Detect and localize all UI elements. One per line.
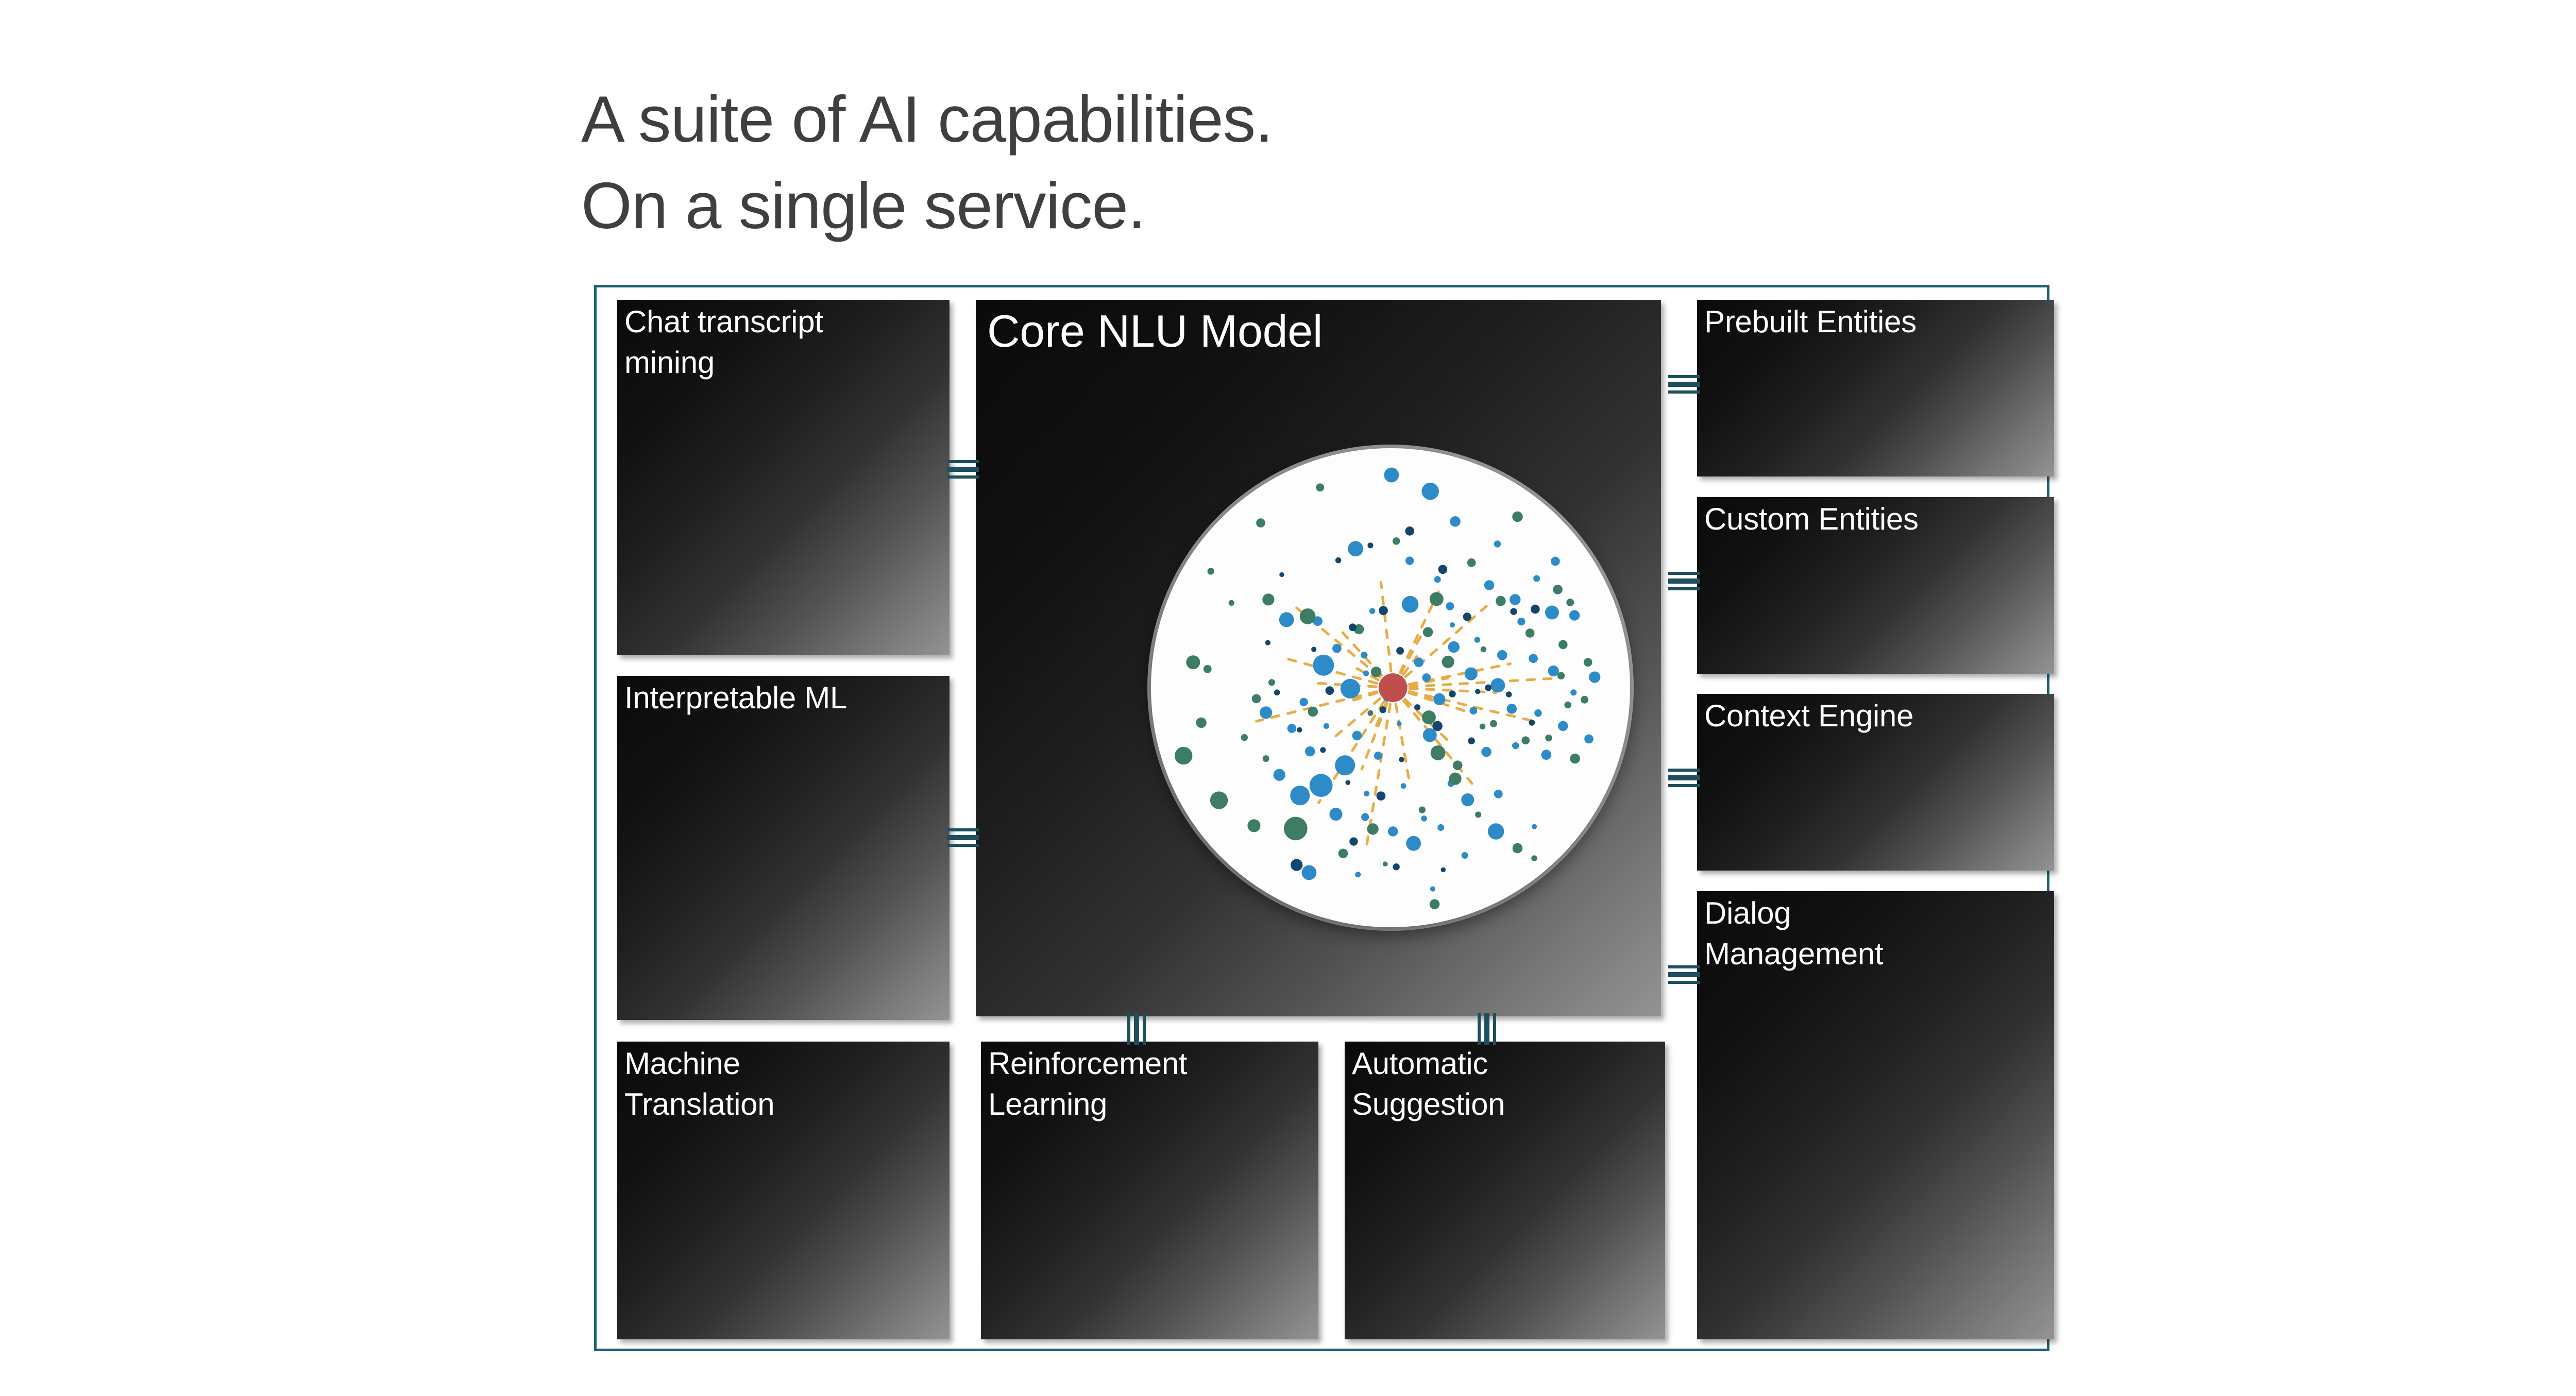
- card-prebuilt-entities[interactable]: Prebuilt Entities: [1697, 300, 2054, 476]
- graph-node: [1446, 602, 1454, 610]
- graph-node: [1496, 596, 1506, 606]
- graph-node: [1584, 735, 1594, 744]
- graph-node: [1252, 694, 1261, 704]
- graph-node: [1548, 666, 1559, 676]
- graph-node: [1484, 580, 1495, 590]
- graph-node: [1256, 518, 1265, 527]
- graph-node: [1512, 512, 1522, 522]
- graph-node: [1324, 723, 1329, 729]
- nlu-network-graph: [1151, 448, 1630, 927]
- graph-node: [1229, 600, 1234, 606]
- graph-node: [1299, 698, 1308, 706]
- graph-node: [1521, 736, 1530, 744]
- graph-node: [1196, 718, 1206, 728]
- graph-node: [1469, 707, 1477, 714]
- connector-line: [1668, 775, 1700, 780]
- graph-node: [1442, 656, 1454, 668]
- card-context-engine[interactable]: Context Engine: [1697, 694, 2054, 871]
- graph-node: [1348, 541, 1363, 556]
- connector-line: [1668, 375, 1700, 378]
- graph-node: [1393, 863, 1399, 870]
- connector-line: [1127, 1013, 1130, 1045]
- graph-node: [1287, 724, 1297, 733]
- graph-node: [1291, 859, 1302, 871]
- graph-node: [1338, 848, 1348, 858]
- graph-node: [1507, 704, 1517, 714]
- graph-node: [1332, 644, 1342, 653]
- connector-line: [1668, 578, 1700, 584]
- graph-node: [1210, 791, 1228, 809]
- graph-node: [1388, 826, 1398, 837]
- graph-node: [1494, 540, 1501, 547]
- connector-context-engine: [1668, 769, 1700, 787]
- connector-line: [1668, 981, 1700, 984]
- card-label: Prebuilt Entities: [1704, 302, 2049, 343]
- graph-node: [1545, 606, 1559, 620]
- graph-node: [1208, 568, 1214, 574]
- card-label: Automatic Suggestion: [1352, 1044, 1660, 1125]
- card-label: Chat transcript mining: [624, 302, 944, 383]
- graph-node: [1414, 657, 1424, 667]
- graph-node: [1463, 612, 1471, 621]
- connector-line: [947, 828, 979, 831]
- graph-node: [1449, 773, 1461, 785]
- graph-node: [1414, 704, 1420, 710]
- graph-node: [1406, 836, 1421, 851]
- graph-node: [1529, 720, 1535, 726]
- connector-line: [1668, 382, 1700, 387]
- graph-node: [1316, 483, 1324, 491]
- graph-node: [1448, 641, 1460, 653]
- connector-line: [1493, 1013, 1496, 1045]
- graph-node: [1308, 707, 1318, 717]
- graph-node: [1349, 837, 1358, 845]
- graph-node: [1440, 867, 1446, 873]
- graph-node: [1329, 808, 1342, 821]
- graph-node: [1494, 790, 1503, 798]
- graph-node: [1311, 646, 1316, 652]
- connector-line: [1668, 965, 1700, 968]
- graph-node: [1422, 673, 1431, 682]
- graph-node: [1186, 655, 1200, 669]
- card-label: Core NLU Model: [987, 304, 1656, 359]
- connector-line: [947, 844, 979, 847]
- card-chat-transcript-mining[interactable]: Chat transcript mining: [617, 300, 950, 655]
- graph-node: [1379, 606, 1388, 615]
- connector-reinforcement-learning: [1127, 1013, 1146, 1045]
- graph-node: [1265, 640, 1270, 645]
- graph-node: [1581, 696, 1588, 704]
- graph-node: [1305, 746, 1315, 757]
- graph-node: [1485, 684, 1492, 691]
- graph-node: [1268, 679, 1275, 686]
- graph-node: [1431, 745, 1446, 760]
- card-label: Custom Entities: [1704, 499, 2049, 540]
- graph-node: [1449, 690, 1455, 697]
- graph-node: [1434, 576, 1441, 583]
- graph-node: [1396, 647, 1404, 655]
- graph-node: [1551, 557, 1560, 566]
- connector-line: [1484, 1013, 1489, 1045]
- graph-node: [1419, 806, 1426, 813]
- graph-node: [1262, 593, 1274, 605]
- graph-node: [1506, 691, 1512, 697]
- graph-node: [1558, 721, 1568, 731]
- connector-line: [947, 475, 979, 479]
- graph-node: [1241, 734, 1248, 741]
- graph-node: [1367, 823, 1378, 835]
- graph-node: [1570, 754, 1580, 764]
- graph-node: [1421, 815, 1427, 822]
- card-label: Dialog Management: [1704, 893, 2049, 974]
- connector-line: [1668, 972, 1700, 977]
- graph-node: [1432, 721, 1443, 731]
- connector-chat-transcript-mining: [947, 460, 979, 479]
- graph-node: [1383, 861, 1388, 866]
- graph-node: [1335, 557, 1342, 564]
- graph-node: [1274, 690, 1280, 696]
- graph-node: [1341, 679, 1360, 699]
- graph-node: [1260, 706, 1272, 719]
- connector-prebuilt-entities: [1668, 375, 1700, 394]
- graph-node: [1566, 599, 1574, 606]
- graph-node: [1490, 720, 1497, 727]
- graph-node: [1284, 817, 1308, 841]
- connector-line: [947, 835, 979, 840]
- graph-node: [1355, 872, 1361, 877]
- graph-node: [1405, 556, 1414, 565]
- connector-line: [1668, 572, 1700, 575]
- graph-node: [1384, 468, 1399, 483]
- graph-node: [1584, 658, 1592, 667]
- graph-node: [1558, 640, 1568, 649]
- graph-node: [1450, 622, 1455, 627]
- graph-node: [1335, 755, 1355, 775]
- graph-node: [1279, 612, 1294, 627]
- card-label: Interpretable ML: [624, 678, 944, 719]
- graph-node: [1247, 819, 1260, 832]
- graph-node: [1534, 709, 1542, 717]
- graph-node: [1569, 610, 1580, 620]
- graph-node: [1352, 731, 1362, 741]
- graph-node: [1531, 855, 1537, 861]
- graph-node: [1531, 605, 1540, 614]
- graph-node: [1510, 594, 1520, 605]
- graph-node: [1437, 824, 1444, 831]
- graph-node: [1589, 671, 1600, 683]
- graph-node: [1512, 742, 1519, 749]
- graph-node: [1570, 689, 1577, 695]
- graph-node: [1274, 769, 1285, 781]
- graph-node: [1430, 899, 1440, 910]
- graph-node: [1379, 706, 1386, 713]
- page-title: A suite of AI capabilities. On a single …: [581, 76, 1921, 249]
- graph-node: [1297, 727, 1302, 733]
- graph-node: [1290, 786, 1310, 805]
- graph-node: [1421, 483, 1438, 500]
- connector-line: [1668, 784, 1700, 787]
- graph-node: [1532, 824, 1537, 829]
- graph-node: [1374, 752, 1382, 760]
- graph-node: [1481, 747, 1492, 757]
- connector-line: [947, 467, 979, 472]
- graph-node: [1301, 865, 1316, 880]
- card-interpretable-ml[interactable]: Interpretable ML: [617, 676, 950, 1020]
- graph-node: [1364, 791, 1369, 796]
- graph-node: [1300, 608, 1316, 624]
- graph-node: [1399, 757, 1404, 762]
- graph-node: [1361, 813, 1369, 821]
- graph-node: [1533, 575, 1540, 582]
- connector-interpretable-ml: [947, 828, 979, 847]
- graph-node: [1430, 592, 1444, 606]
- connector-line: [1668, 769, 1700, 772]
- graph-node: [1475, 811, 1481, 818]
- graph-node: [1423, 728, 1437, 742]
- connector-line: [947, 460, 979, 463]
- graph-node: [1526, 628, 1535, 638]
- graph-node: [1490, 678, 1505, 692]
- graph-node: [1450, 516, 1460, 526]
- graph-node: [1462, 852, 1468, 859]
- graph-node: [1377, 791, 1386, 801]
- card-dialog-management[interactable]: Dialog Management: [1697, 891, 2054, 1339]
- graph-node: [1497, 650, 1507, 660]
- graph-node: [1310, 774, 1333, 797]
- graph-node: [1461, 793, 1474, 806]
- graph-node: [1541, 750, 1551, 760]
- graph-node: [1345, 780, 1350, 785]
- graph-node: [1481, 646, 1487, 653]
- connector-line: [1478, 1013, 1481, 1045]
- graph-node: [1349, 623, 1357, 631]
- graph-node: [1367, 710, 1373, 716]
- card-automatic-suggestion[interactable]: Automatic Suggestion: [1345, 1042, 1665, 1339]
- graph-node: [1517, 618, 1525, 625]
- graph-node: [1438, 565, 1448, 574]
- graph-node: [1422, 710, 1436, 724]
- card-machine-translation[interactable]: Machine Translation: [617, 1042, 950, 1339]
- graph-hub-node: [1379, 673, 1408, 702]
- graph-node: [1423, 627, 1433, 637]
- graph-node: [1361, 652, 1367, 658]
- graph-edge: [1381, 582, 1393, 688]
- graph-node: [1430, 886, 1435, 891]
- graph-node: [1326, 686, 1334, 695]
- card-label: Machine Translation: [624, 1044, 944, 1125]
- connector-line: [1668, 587, 1700, 590]
- card-core-nlu-model[interactable]: Core NLU Model: [976, 300, 1661, 1016]
- graph-node: [1564, 702, 1571, 708]
- graph-node: [1513, 843, 1523, 854]
- connector-automatic-suggestion: [1478, 1013, 1496, 1045]
- connector-line: [1134, 1013, 1139, 1045]
- graph-node: [1480, 724, 1486, 730]
- graph-node: [1467, 558, 1476, 567]
- card-reinforcement-learning[interactable]: Reinforcement Learning: [981, 1042, 1318, 1339]
- graph-node: [1488, 823, 1504, 840]
- graph-node: [1397, 721, 1402, 726]
- graph-node: [1475, 637, 1481, 643]
- graph-node: [1405, 526, 1414, 536]
- card-custom-entities[interactable]: Custom Entities: [1697, 497, 2054, 674]
- graph-node: [1320, 747, 1326, 753]
- graph-node: [1553, 585, 1563, 594]
- graph-node: [1510, 608, 1517, 615]
- connector-line: [1143, 1013, 1146, 1045]
- card-label: Context Engine: [1704, 696, 2049, 737]
- graph-node: [1393, 537, 1400, 545]
- graph-node: [1279, 572, 1284, 577]
- graph-node: [1369, 608, 1376, 614]
- graph-node: [1465, 667, 1478, 680]
- connector-custom-entities: [1668, 572, 1700, 590]
- graph-node: [1402, 596, 1419, 613]
- connector-dialog-management: [1668, 965, 1700, 984]
- graph-node: [1263, 755, 1269, 762]
- graph-node: [1363, 671, 1369, 676]
- graph-node: [1313, 655, 1334, 676]
- graph-node: [1468, 738, 1475, 744]
- graph-node: [1204, 665, 1212, 673]
- graph-node: [1175, 747, 1192, 764]
- graph-node: [1371, 667, 1381, 677]
- graph-node: [1545, 735, 1552, 741]
- graph-node: [1401, 783, 1406, 789]
- graph-node: [1453, 760, 1463, 770]
- graph-node: [1529, 654, 1538, 663]
- graph-node: [1475, 689, 1480, 694]
- graph-node: [1433, 693, 1445, 705]
- card-label: Reinforcement Learning: [988, 1044, 1313, 1125]
- connector-line: [1668, 390, 1700, 394]
- graph-node: [1367, 542, 1373, 548]
- graph-node: [1557, 672, 1565, 679]
